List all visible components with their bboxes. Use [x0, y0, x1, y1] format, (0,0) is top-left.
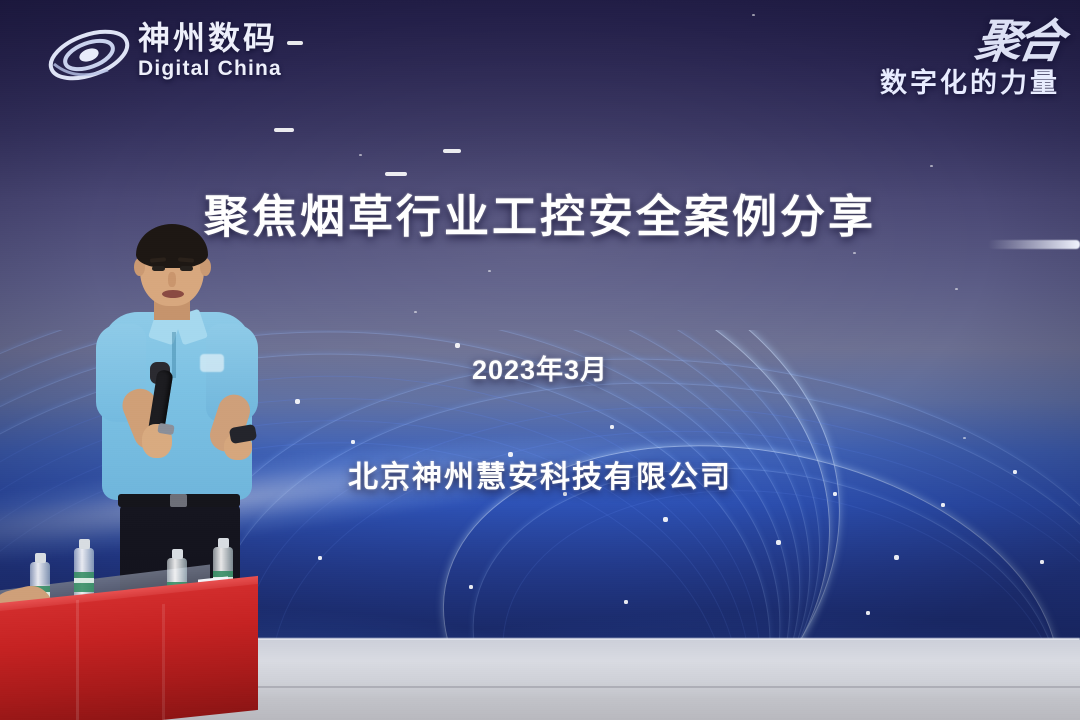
- table-cloth-fold: [162, 604, 165, 720]
- speaker-eye-right: [180, 266, 193, 271]
- event-logo-subtitle: 数字化的力量: [790, 66, 1060, 100]
- event-logo: 聚合 数字化的力量: [790, 18, 1060, 114]
- digital-china-logo-text: 神州数码 Digital China: [138, 20, 282, 82]
- speaker-eye-left: [152, 266, 165, 271]
- logo-en-text: Digital China: [138, 56, 282, 82]
- speaker-belt-buckle: [170, 494, 187, 507]
- speaker-nose: [168, 272, 176, 287]
- logo-cn-text: 神州数码: [138, 20, 282, 56]
- presentation-clicker: [229, 424, 257, 444]
- spiral-galaxy-mark-icon: [46, 24, 132, 86]
- event-logo-brush-text: 聚合: [972, 18, 1063, 64]
- speaker-hair: [136, 224, 208, 268]
- table-cloth-fold: [76, 600, 79, 720]
- speaker-mouth: [162, 290, 184, 298]
- conference-photo-scene: 神州数码 Digital China 聚合 数字化的力量 聚焦烟草行业工控安全案…: [0, 0, 1080, 720]
- speaker-shirt-logo: [200, 354, 224, 372]
- speaker-shirt-placket: [172, 332, 176, 378]
- digital-china-logo: 神州数码 Digital China: [46, 20, 306, 92]
